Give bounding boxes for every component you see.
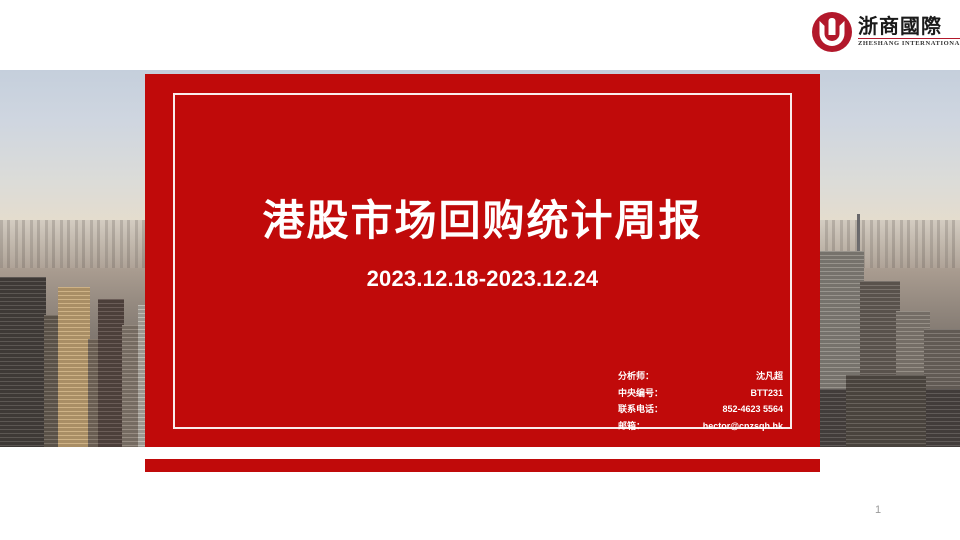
title-panel: 港股市场回购统计周报 2023.12.18-2023.12.24 分析师： 沈凡…: [145, 74, 820, 447]
logo-divider: [858, 38, 960, 39]
contact-value-analyst: 沈凡超: [676, 373, 783, 382]
analyst-contact-block: 分析师： 沈凡超 中央编号： BTT231 联系电话： 852-4623 556…: [618, 373, 783, 438]
company-logo: 浙商國際 ZHESHANG INTERNATIONAL: [812, 6, 954, 58]
logo-text-block: 浙商國際 ZHESHANG INTERNATIONAL: [858, 16, 960, 48]
title-block: 港股市场回购统计周报 2023.12.18-2023.12.24: [145, 197, 820, 292]
page-subtitle: 2023.12.18-2023.12.24: [145, 266, 820, 292]
page-title: 港股市场回购统计周报: [145, 197, 820, 244]
contact-row: 邮箱： hector@cnzsqh.hk: [618, 422, 783, 432]
contact-row: 分析师： 沈凡超: [618, 373, 783, 382]
accent-bar: [145, 459, 820, 472]
contact-value-email: hector@cnzsqh.hk: [676, 422, 783, 431]
contact-row: 联系电话： 852-4623 5564: [618, 405, 783, 415]
contact-value-phone: 852-4623 5564: [676, 405, 783, 414]
contact-label-email: 邮箱：: [618, 423, 676, 432]
contact-value-license: BTT231: [676, 389, 783, 398]
building: [98, 299, 124, 447]
building: [846, 375, 926, 447]
logo-name-cn: 浙商國際: [858, 16, 960, 36]
logo-name-en: ZHESHANG INTERNATIONAL: [858, 41, 960, 48]
contact-label-analyst: 分析师：: [618, 373, 676, 382]
contact-label-phone: 联系电话：: [618, 406, 676, 415]
page-number: 1: [866, 504, 890, 516]
zheshang-circle-logo-icon: [812, 12, 852, 52]
building: [58, 287, 90, 447]
contact-row: 中央编号： BTT231: [618, 389, 783, 399]
contact-label-license: 中央编号：: [618, 390, 676, 399]
title-slide: 浙商國際 ZHESHANG INTERNATIONAL: [0, 0, 960, 540]
building: [0, 277, 46, 447]
